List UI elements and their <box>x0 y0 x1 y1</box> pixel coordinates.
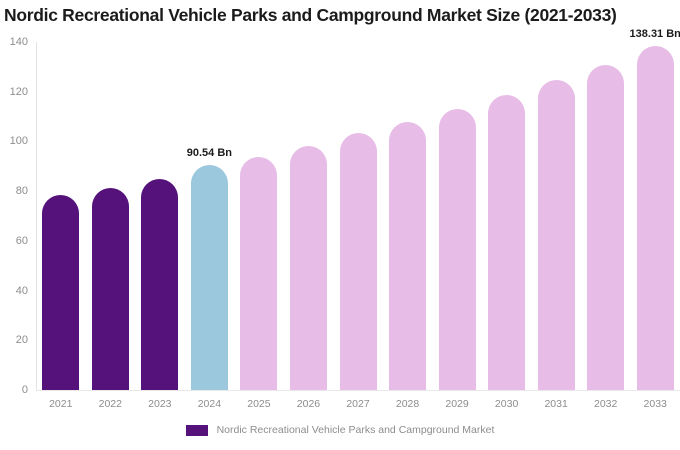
bar-chart: Nordic Recreational Vehicle Parks and Ca… <box>0 0 680 450</box>
y-axis-tick-label: 0 <box>22 384 28 396</box>
x-axis-tick-label: 2032 <box>594 398 617 410</box>
bar-2031[interactable] <box>538 80 575 390</box>
bar-2026[interactable] <box>290 146 327 390</box>
y-axis-tick-label: 80 <box>16 185 28 197</box>
x-axis-tick-label: 2028 <box>396 398 419 410</box>
bar-2032[interactable] <box>587 65 624 390</box>
bar-2023[interactable] <box>141 179 178 390</box>
legend-item-label: Nordic Recreational Vehicle Parks and Ca… <box>217 424 495 436</box>
x-axis-tick-label: 2021 <box>49 398 72 410</box>
bar-2027[interactable] <box>340 133 377 390</box>
x-axis-tick-label: 2027 <box>346 398 369 410</box>
y-axis-tick-label: 40 <box>16 285 28 297</box>
y-axis: 020406080100120140 <box>0 42 36 390</box>
x-axis-tick-label: 2031 <box>544 398 567 410</box>
bar-value-label-2024: 90.54 Bn <box>187 147 232 159</box>
y-axis-tick-label: 100 <box>10 135 28 147</box>
bar-2021[interactable] <box>42 195 79 390</box>
bar-2022[interactable] <box>92 188 129 390</box>
bar-2029[interactable] <box>439 109 476 390</box>
bar-2024[interactable] <box>191 165 228 390</box>
bar-2030[interactable] <box>488 95 525 390</box>
x-axis-tick-label: 2024 <box>198 398 221 410</box>
x-axis-tick-label: 2026 <box>297 398 320 410</box>
x-axis-tick-label: 2033 <box>644 398 667 410</box>
legend-swatch-icon <box>186 425 208 436</box>
x-axis-tick-label: 2023 <box>148 398 171 410</box>
bar-2025[interactable] <box>240 157 277 390</box>
bar-2033[interactable] <box>637 46 674 390</box>
plot-area: 90.54 Bn138.31 Bn <box>36 42 680 390</box>
x-axis-tick-label: 2022 <box>99 398 122 410</box>
x-axis-tick-label: 2030 <box>495 398 518 410</box>
x-axis-baseline <box>36 390 680 391</box>
y-axis-tick-label: 120 <box>10 86 28 98</box>
y-axis-tick-label: 60 <box>16 235 28 247</box>
x-axis-tick-label: 2029 <box>445 398 468 410</box>
y-axis-tick-label: 20 <box>16 334 28 346</box>
chart-title: Nordic Recreational Vehicle Parks and Ca… <box>4 4 680 26</box>
y-axis-tick-label: 140 <box>10 36 28 48</box>
chart-legend: Nordic Recreational Vehicle Parks and Ca… <box>0 424 680 436</box>
bar-2028[interactable] <box>389 122 426 390</box>
bar-value-label-2033: 138.31 Bn <box>630 28 680 40</box>
x-axis-tick-label: 2025 <box>247 398 270 410</box>
